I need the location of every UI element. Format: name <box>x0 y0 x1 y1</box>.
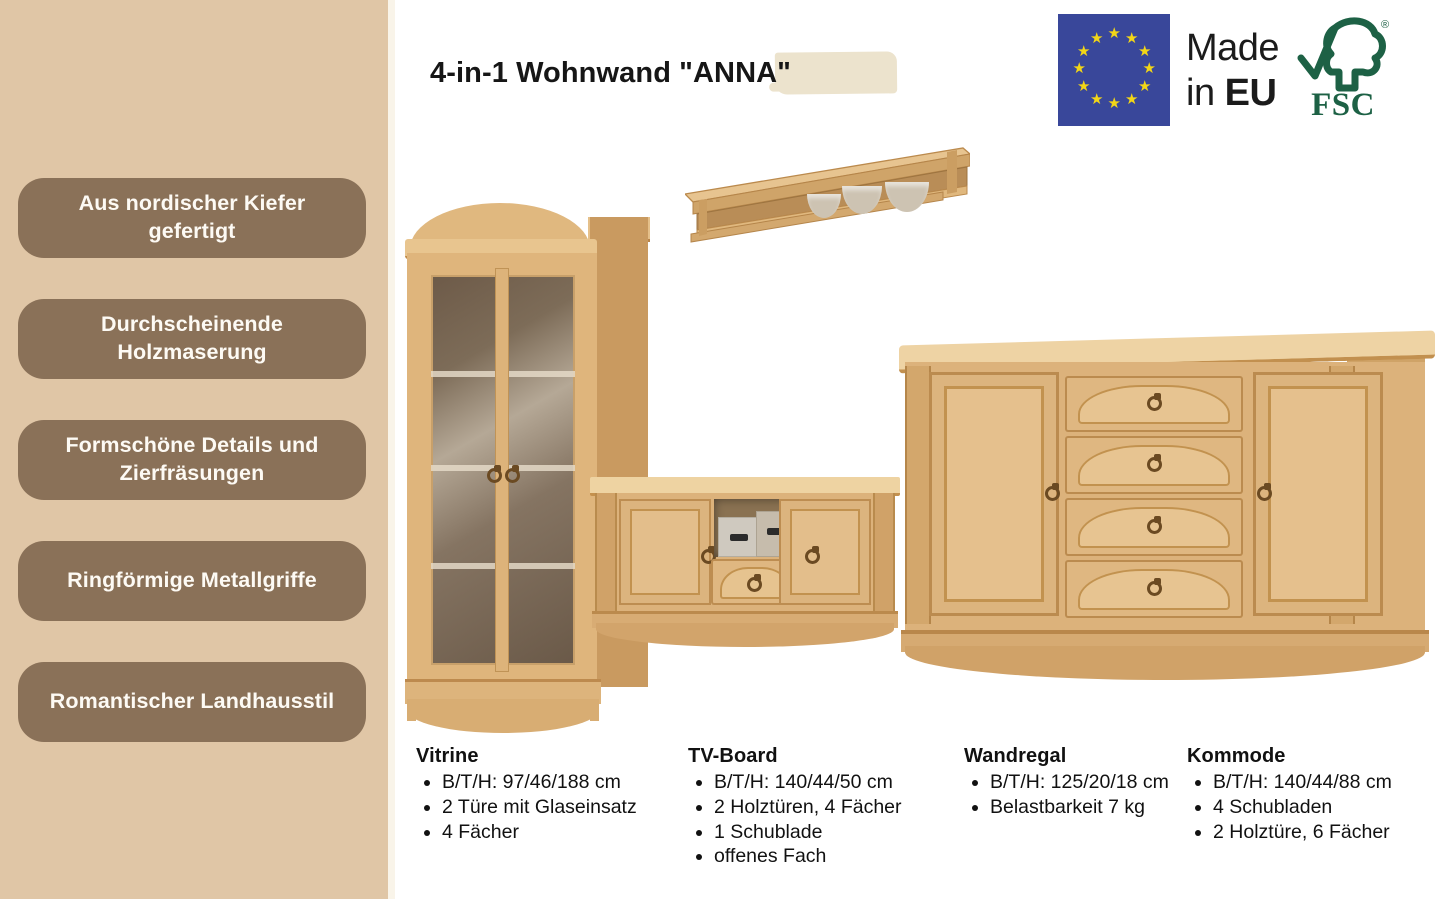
furniture-wandregal <box>685 142 970 244</box>
kommode-body <box>905 362 1425 630</box>
fsc-badge: ® FSC <box>1295 14 1391 126</box>
eu-star-icon: ★ <box>1108 27 1121 40</box>
furniture-kommode <box>895 338 1435 686</box>
feature-pill-material: Aus nordischer Kiefer gefertigt <box>18 178 366 258</box>
feature-pill-label: Formschöne Details und Zierfräsungen <box>36 432 348 488</box>
kommode-drawer-handle <box>1147 581 1162 596</box>
spec-column-vitrine: Vitrine B/T/H: 97/46/188 cm 2 Türe mit G… <box>416 745 688 885</box>
spec-item: 2 Türe mit Glaseinsatz <box>442 795 688 820</box>
kommode-door-handle <box>1257 486 1272 501</box>
spec-item: 4 Fächer <box>442 820 688 845</box>
fsc-wordmark: FSC <box>1295 87 1391 124</box>
made-in-eu-label: Made in EU <box>1186 29 1279 112</box>
tv-board-door-right <box>779 499 871 605</box>
spec-item: 4 Schubladen <box>1213 795 1427 820</box>
tv-board-curved-apron <box>596 623 894 647</box>
page-title-wrap: 4-in-1 Wohnwand "ANNA" <box>430 57 1030 105</box>
kommode-door-handle <box>1045 486 1060 501</box>
made-in-eu-eu: EU <box>1225 72 1277 114</box>
box-handle-slot <box>730 534 748 541</box>
tv-board-door-left <box>619 499 711 605</box>
tv-board-pilaster <box>873 493 895 611</box>
product-infographic: Aus nordischer Kiefer gefertigt Durchsch… <box>0 0 1442 899</box>
spec-item: B/T/H: 97/46/188 cm <box>442 770 688 795</box>
decor-storage-box <box>718 517 760 557</box>
spec-list: B/T/H: 97/46/188 cm 2 Türe mit Glaseinsa… <box>416 770 688 844</box>
spec-heading: Vitrine <box>416 745 688 768</box>
product-photo <box>395 120 1442 730</box>
spec-heading: Kommode <box>1187 745 1427 768</box>
page-title: 4-in-1 Wohnwand "ANNA" <box>430 57 1030 90</box>
tv-board-pilaster <box>595 493 617 611</box>
eu-star-icon: ★ <box>1073 62 1086 75</box>
feature-pill-list: Aus nordischer Kiefer gefertigt Durchsch… <box>18 178 366 742</box>
eu-star-icon: ★ <box>1138 45 1151 58</box>
vitrine-ring-handle <box>505 468 520 483</box>
eu-star-icon: ★ <box>1125 32 1138 45</box>
certification-badges: ★ ★ ★ ★ ★ ★ ★ ★ ★ ★ ★ ★ Made in EU ® <box>1058 14 1391 126</box>
furniture-tv-board <box>590 465 910 645</box>
sidebar-edge-divider <box>388 0 395 899</box>
kommode-door-left <box>929 372 1059 616</box>
kommode-curved-apron <box>905 646 1425 680</box>
vitrine-ring-handle <box>487 468 502 483</box>
eu-star-icon: ★ <box>1138 80 1151 93</box>
eu-flag-icon: ★ ★ ★ ★ ★ ★ ★ ★ ★ ★ ★ ★ <box>1058 14 1170 126</box>
spec-column-kommode: Kommode B/T/H: 140/44/88 cm 4 Schubladen… <box>1187 745 1427 885</box>
made-in-eu-in: in <box>1186 72 1225 114</box>
fsc-tree-checkmark-icon: ® <box>1295 14 1391 98</box>
fsc-registered-mark: ® <box>1381 19 1389 31</box>
eu-star-icon: ★ <box>1077 80 1090 93</box>
spec-item: 1 Schublade <box>714 820 964 845</box>
kommode-drawer-handle <box>1147 396 1162 411</box>
specification-columns: Vitrine B/T/H: 97/46/188 cm 2 Türe mit G… <box>416 745 1436 885</box>
spec-heading: TV-Board <box>688 745 964 768</box>
kommode-door-right <box>1253 372 1383 616</box>
spec-column-tv-board: TV-Board B/T/H: 140/44/50 cm 2 Holztüren… <box>688 745 964 885</box>
feature-pill-label: Romantischer Landhausstil <box>50 688 334 716</box>
tv-board-door-handle <box>805 549 820 564</box>
feature-pill-label: Ringförmige Metallgriffe <box>67 567 317 595</box>
feature-pill-label: Aus nordischer Kiefer gefertigt <box>36 190 348 246</box>
made-in-eu-line2: in EU <box>1186 74 1279 112</box>
eu-star-icon: ★ <box>1108 97 1121 110</box>
kommode-drawer-handle <box>1147 457 1162 472</box>
eu-star-icon: ★ <box>1077 45 1090 58</box>
spec-column-wandregal: Wandregal B/T/H: 125/20/18 cm Belastbark… <box>964 745 1187 885</box>
feature-pill-details: Formschöne Details und Zierfräsungen <box>18 420 366 500</box>
spec-heading: Wandregal <box>964 745 1187 768</box>
feature-pill-handles: Ringförmige Metallgriffe <box>18 541 366 621</box>
spec-item: 2 Holztüre, 6 Fächer <box>1213 820 1427 845</box>
feature-pill-style: Romantischer Landhausstil <box>18 662 366 742</box>
spec-item: B/T/H: 140/44/88 cm <box>1213 770 1427 795</box>
eu-star-icon: ★ <box>1143 62 1156 75</box>
spec-item: Belastbarkeit 7 kg <box>990 795 1187 820</box>
eu-star-icon: ★ <box>1090 32 1103 45</box>
spec-item: 2 Holztüren, 4 Fächer <box>714 795 964 820</box>
tv-board-body <box>595 493 895 611</box>
spec-list: B/T/H: 140/44/50 cm 2 Holztüren, 4 Fäche… <box>688 770 964 869</box>
vitrine-body <box>407 253 597 687</box>
eu-star-icon: ★ <box>1090 93 1103 106</box>
spec-list: B/T/H: 125/20/18 cm Belastbarkeit 7 kg <box>964 770 1187 820</box>
page-title-text: 4-in-1 Wohnwand "ANNA" <box>430 57 791 89</box>
spec-list: B/T/H: 140/44/88 cm 4 Schubladen 2 Holzt… <box>1187 770 1427 844</box>
spec-item: B/T/H: 125/20/18 cm <box>990 770 1187 795</box>
kommode-pilaster <box>905 366 931 624</box>
eu-star-icon: ★ <box>1125 93 1138 106</box>
feature-pill-label: Durchscheinende Holzmaserung <box>36 311 348 367</box>
spec-item: offenes Fach <box>714 844 964 869</box>
made-in-eu-line1: Made <box>1186 29 1279 67</box>
tv-board-drawer-handle <box>747 577 762 592</box>
kommode-drawer-handle <box>1147 519 1162 534</box>
vitrine-curved-apron <box>407 699 599 733</box>
spec-item: B/T/H: 140/44/50 cm <box>714 770 964 795</box>
feature-pill-grain: Durchscheinende Holzmaserung <box>18 299 366 379</box>
